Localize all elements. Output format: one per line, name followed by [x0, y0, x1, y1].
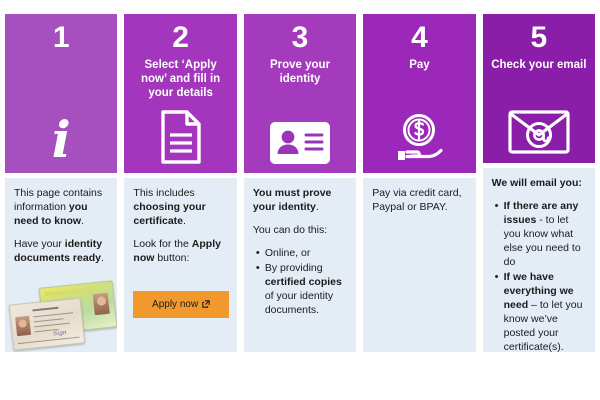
- external-link-icon: [202, 300, 210, 308]
- email-at-icon: [483, 93, 595, 155]
- id-card-icon: [244, 103, 356, 165]
- steps-row: 1iThis page contains information you nee…: [5, 14, 595, 352]
- step-column-4: 4PayPay via credit card, Paypal or BPAY.: [363, 14, 475, 352]
- step-column-5: 5Check your emailWe will email you:If th…: [483, 14, 595, 352]
- body-bullet-list: Online, orBy providing certified copies …: [253, 247, 348, 318]
- steps-infographic: 1iThis page contains information you nee…: [0, 0, 600, 400]
- body-text: of your identity documents.: [265, 290, 333, 316]
- step-header-5: 5Check your email: [483, 14, 595, 163]
- step-body-1: This page contains information you need …: [5, 178, 117, 352]
- body-text: Pay via credit card, Paypal or BPAY.: [372, 187, 461, 213]
- step-number: 4: [411, 22, 428, 54]
- step-number: 3: [292, 22, 309, 54]
- identity-documents-photo: Sign: [11, 284, 115, 346]
- step-header-2: 2Select ‘Apply now’ and fill in your det…: [124, 14, 236, 173]
- step-number: 5: [530, 22, 547, 54]
- body-bullet-list: If there are any issues - to let you kno…: [492, 200, 587, 352]
- step-header-1: 1i: [5, 14, 117, 173]
- body-paragraph: You can do this:: [253, 224, 348, 238]
- step-title: Select ‘Apply now’ and fill in your deta…: [130, 58, 230, 100]
- list-item: Online, or: [265, 247, 348, 261]
- emphasis-text: You must prove your identity: [253, 187, 332, 213]
- step-header-3: 3Prove your identity: [244, 14, 356, 173]
- body-paragraph: This page contains information you need …: [14, 187, 109, 229]
- body-paragraph: Have your identity documents ready.: [14, 238, 109, 266]
- body-text: Look for the: [133, 238, 191, 250]
- body-text: button:: [154, 252, 189, 264]
- emphasis-text: We will email you:: [492, 177, 582, 189]
- step-column-2: 2Select ‘Apply now’ and fill in your det…: [124, 14, 236, 352]
- body-paragraph: Pay via credit card, Paypal or BPAY.: [372, 187, 467, 215]
- list-item: If there are any issues - to let you kno…: [504, 200, 587, 270]
- body-paragraph: Look for the Apply now button:: [133, 238, 228, 266]
- step-column-1: 1iThis page contains information you nee…: [5, 14, 117, 352]
- body-paragraph: We will email you:: [492, 177, 587, 191]
- body-paragraph: This includes choosing your certificate.: [133, 187, 228, 229]
- step-number: 2: [172, 22, 189, 54]
- step-column-3: 3Prove your identityYou must prove your …: [244, 14, 356, 352]
- passport-card: Sign: [9, 297, 85, 350]
- document-icon: [124, 103, 236, 165]
- list-item: By providing certified copies of your id…: [265, 262, 348, 318]
- body-text: By providing: [265, 262, 323, 274]
- list-item: If we have everything we need – to let y…: [504, 271, 587, 352]
- step-body-5: We will email you:If there are any issue…: [483, 168, 595, 352]
- emphasis-text: certified copies: [265, 276, 342, 288]
- step-number: 1: [53, 22, 70, 54]
- emphasis-text: choosing your certificate: [133, 201, 205, 227]
- step-title: Check your email: [491, 58, 586, 72]
- body-text: You can do this:: [253, 224, 327, 236]
- step-header-4: 4Pay: [363, 14, 475, 173]
- apply-now-label: Apply now: [152, 299, 198, 310]
- step-title: Pay: [409, 58, 429, 72]
- body-text: .: [316, 201, 319, 213]
- body-text: Online, or: [265, 247, 311, 259]
- step-body-3: You must prove your identity.You can do …: [244, 178, 356, 352]
- body-text: .: [81, 215, 84, 227]
- body-text: .: [101, 252, 104, 264]
- body-text: This includes: [133, 187, 194, 199]
- body-text: .: [183, 215, 186, 227]
- step-body-4: Pay via credit card, Paypal or BPAY.: [363, 178, 475, 352]
- body-paragraph: You must prove your identity.: [253, 187, 348, 215]
- body-text: This page contains information: [14, 187, 102, 213]
- step-title: Prove your identity: [250, 58, 350, 86]
- step-body-2: This includes choosing your certificate.…: [124, 178, 236, 352]
- body-text: Have your: [14, 238, 65, 250]
- apply-now-button[interactable]: Apply now: [133, 291, 228, 318]
- information-icon: i: [5, 103, 117, 165]
- money-in-hand-icon: [363, 103, 475, 165]
